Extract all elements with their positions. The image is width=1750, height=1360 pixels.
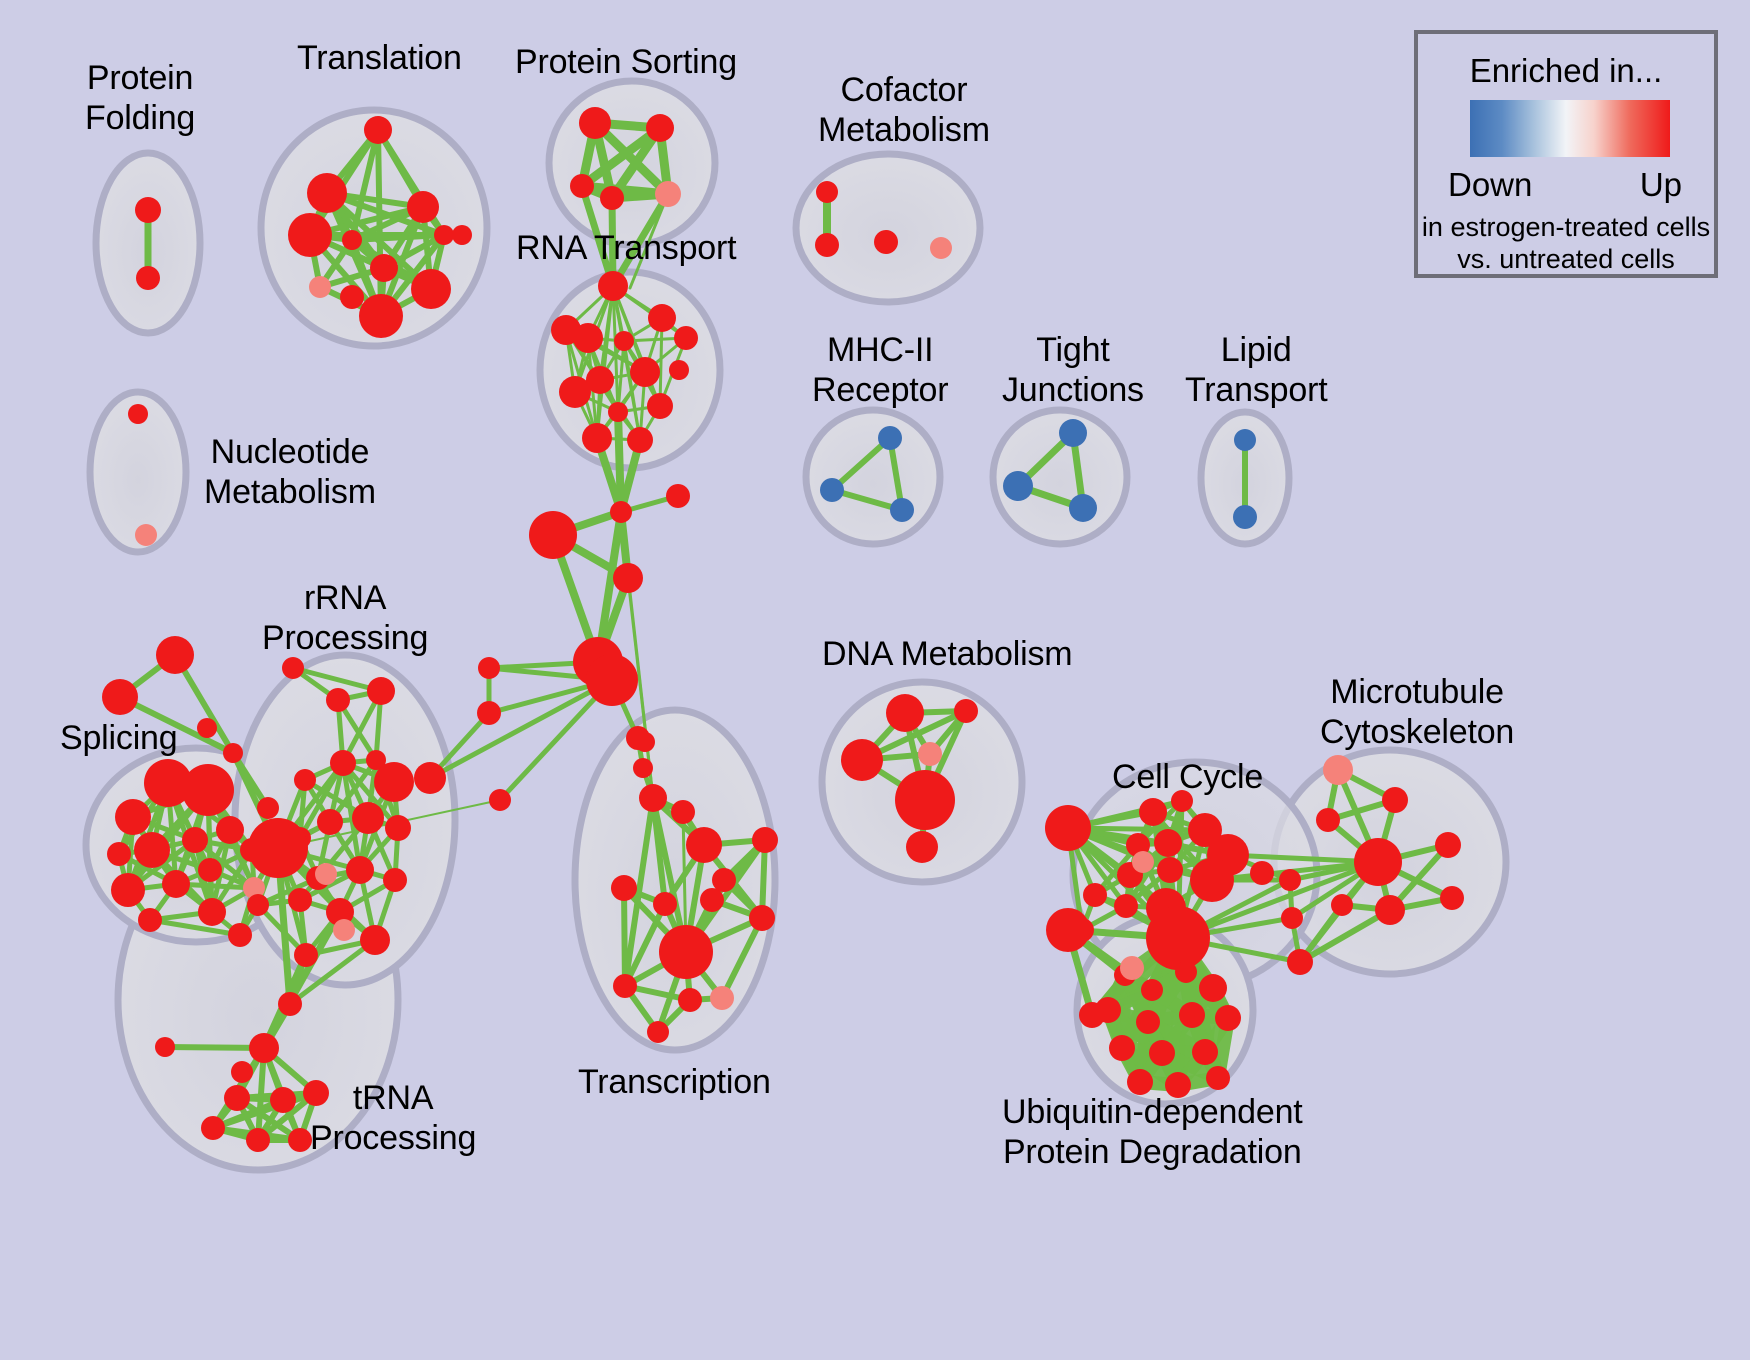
node[interactable]: [315, 863, 337, 885]
node[interactable]: [613, 974, 637, 998]
node[interactable]: [752, 827, 778, 853]
node[interactable]: [1192, 1039, 1218, 1065]
node[interactable]: [1354, 838, 1402, 886]
node[interactable]: [1233, 505, 1257, 529]
node[interactable]: [816, 181, 838, 203]
node[interactable]: [582, 423, 612, 453]
node[interactable]: [1435, 832, 1461, 858]
node[interactable]: [633, 758, 653, 778]
node[interactable]: [107, 842, 131, 866]
node[interactable]: [134, 832, 170, 868]
legend-high-label: Up: [1640, 166, 1682, 204]
node[interactable]: [608, 402, 628, 422]
node[interactable]: [820, 478, 844, 502]
node[interactable]: [1199, 974, 1227, 1002]
node[interactable]: [102, 679, 138, 715]
node[interactable]: [182, 764, 234, 816]
node[interactable]: [674, 326, 698, 350]
node[interactable]: [201, 1116, 225, 1140]
node[interactable]: [1154, 829, 1182, 857]
node[interactable]: [1316, 808, 1340, 832]
node[interactable]: [135, 524, 157, 546]
node[interactable]: [653, 892, 677, 916]
node[interactable]: [359, 294, 403, 338]
node[interactable]: [111, 873, 145, 907]
node[interactable]: [162, 870, 190, 898]
node[interactable]: [228, 923, 252, 947]
node[interactable]: [330, 750, 356, 776]
node[interactable]: [1281, 907, 1303, 929]
node[interactable]: [128, 404, 148, 424]
node[interactable]: [1323, 755, 1353, 785]
node[interactable]: [712, 868, 736, 892]
node[interactable]: [1206, 1066, 1230, 1090]
node[interactable]: [342, 230, 362, 250]
node[interactable]: [216, 816, 244, 844]
node[interactable]: [370, 254, 398, 282]
node[interactable]: [1440, 886, 1464, 910]
node[interactable]: [383, 868, 407, 892]
node[interactable]: [611, 875, 637, 901]
node[interactable]: [197, 718, 217, 738]
node[interactable]: [895, 770, 955, 830]
node[interactable]: [586, 654, 638, 706]
node[interactable]: [886, 694, 924, 732]
node[interactable]: [352, 802, 384, 834]
node[interactable]: [1146, 906, 1210, 970]
node[interactable]: [710, 986, 734, 1010]
node[interactable]: [364, 116, 392, 144]
node[interactable]: [282, 657, 304, 679]
node[interactable]: [1139, 798, 1167, 826]
node[interactable]: [452, 225, 472, 245]
node[interactable]: [954, 699, 978, 723]
node[interactable]: [639, 784, 667, 812]
node[interactable]: [659, 925, 713, 979]
node[interactable]: [1157, 857, 1183, 883]
node[interactable]: [613, 563, 643, 593]
node[interactable]: [1250, 861, 1274, 885]
cluster-ellipse-mhc-ii-receptor: [806, 410, 940, 544]
node[interactable]: [346, 856, 374, 884]
node[interactable]: [630, 357, 660, 387]
node[interactable]: [646, 114, 674, 142]
node[interactable]: [385, 815, 411, 841]
node[interactable]: [1215, 1005, 1241, 1031]
node[interactable]: [374, 762, 414, 802]
node[interactable]: [288, 1128, 312, 1152]
node[interactable]: [270, 1087, 296, 1113]
node[interactable]: [669, 360, 689, 380]
node[interactable]: [309, 276, 331, 298]
node[interactable]: [598, 271, 628, 301]
node[interactable]: [627, 427, 653, 453]
node[interactable]: [918, 742, 942, 766]
node[interactable]: [1287, 949, 1313, 975]
node[interactable]: [156, 636, 194, 674]
node[interactable]: [1175, 961, 1197, 983]
node[interactable]: [1003, 471, 1033, 501]
node[interactable]: [414, 762, 446, 794]
node[interactable]: [1109, 1035, 1135, 1061]
node[interactable]: [874, 230, 898, 254]
node[interactable]: [647, 393, 673, 419]
legend-box: Enriched in... Down Up in estrogen-treat…: [1414, 30, 1718, 278]
node[interactable]: [559, 376, 591, 408]
node[interactable]: [1171, 790, 1193, 812]
node[interactable]: [407, 191, 439, 223]
node[interactable]: [1141, 979, 1163, 1001]
node[interactable]: [635, 732, 655, 752]
node[interactable]: [1095, 997, 1121, 1023]
node[interactable]: [1234, 429, 1256, 451]
node[interactable]: [1190, 858, 1234, 902]
enrichment-map-figure: Protein Folding Translation Protein Sort…: [0, 0, 1750, 1360]
node[interactable]: [294, 943, 318, 967]
legend-caption-line1: in estrogen-treated cells: [1418, 212, 1714, 243]
node[interactable]: [248, 818, 308, 878]
node[interactable]: [288, 213, 332, 257]
node[interactable]: [666, 484, 690, 508]
node[interactable]: [815, 233, 839, 257]
node[interactable]: [257, 797, 279, 819]
node[interactable]: [906, 831, 938, 863]
legend-low-label: Down: [1448, 166, 1532, 204]
node[interactable]: [1120, 956, 1144, 980]
node[interactable]: [686, 827, 722, 863]
node[interactable]: [610, 501, 632, 523]
node[interactable]: [333, 919, 355, 941]
node[interactable]: [198, 858, 222, 882]
node[interactable]: [614, 331, 634, 351]
node[interactable]: [890, 498, 914, 522]
node[interactable]: [478, 657, 500, 679]
node[interactable]: [434, 225, 454, 245]
node[interactable]: [489, 789, 511, 811]
node[interactable]: [1069, 494, 1097, 522]
node[interactable]: [115, 799, 151, 835]
node[interactable]: [1127, 1069, 1153, 1095]
node[interactable]: [294, 769, 316, 791]
node[interactable]: [1165, 1072, 1191, 1098]
node[interactable]: [223, 743, 243, 763]
node[interactable]: [700, 888, 724, 912]
node[interactable]: [930, 237, 952, 259]
node[interactable]: [367, 677, 395, 705]
node[interactable]: [307, 173, 347, 213]
node[interactable]: [1045, 805, 1091, 851]
node[interactable]: [1331, 894, 1353, 916]
node[interactable]: [182, 827, 208, 853]
node[interactable]: [1136, 1010, 1160, 1034]
node[interactable]: [1059, 419, 1087, 447]
node[interactable]: [246, 1128, 270, 1152]
node[interactable]: [340, 285, 364, 309]
node[interactable]: [138, 908, 162, 932]
node[interactable]: [360, 925, 390, 955]
node[interactable]: [749, 905, 775, 931]
node[interactable]: [477, 701, 501, 725]
node[interactable]: [1114, 894, 1138, 918]
node[interactable]: [317, 809, 343, 835]
node[interactable]: [1279, 869, 1301, 891]
node[interactable]: [231, 1061, 253, 1083]
node[interactable]: [224, 1085, 250, 1111]
node[interactable]: [841, 739, 883, 781]
node[interactable]: [136, 266, 160, 290]
node[interactable]: [600, 186, 624, 210]
node[interactable]: [573, 323, 603, 353]
node[interactable]: [1046, 908, 1090, 952]
node[interactable]: [278, 992, 302, 1016]
legend-title: Enriched in...: [1418, 52, 1714, 90]
node[interactable]: [303, 1080, 329, 1106]
node[interactable]: [1132, 851, 1154, 873]
node[interactable]: [671, 800, 695, 824]
node[interactable]: [678, 988, 702, 1012]
node[interactable]: [655, 181, 681, 207]
node[interactable]: [529, 511, 577, 559]
node[interactable]: [247, 894, 269, 916]
node[interactable]: [249, 1033, 279, 1063]
legend-color-gradient-bar: [1470, 100, 1670, 157]
node[interactable]: [1179, 1002, 1205, 1028]
node[interactable]: [288, 888, 312, 912]
node[interactable]: [647, 1021, 669, 1043]
node[interactable]: [1083, 883, 1107, 907]
node[interactable]: [198, 898, 226, 926]
legend-caption-line2: vs. untreated cells: [1418, 244, 1714, 275]
node[interactable]: [878, 426, 902, 450]
node[interactable]: [135, 197, 161, 223]
node[interactable]: [648, 304, 676, 332]
node[interactable]: [1149, 1040, 1175, 1066]
node[interactable]: [326, 688, 350, 712]
node[interactable]: [1382, 787, 1408, 813]
node[interactable]: [1375, 895, 1405, 925]
node[interactable]: [579, 107, 611, 139]
node[interactable]: [155, 1037, 175, 1057]
node[interactable]: [570, 174, 594, 198]
node[interactable]: [411, 269, 451, 309]
